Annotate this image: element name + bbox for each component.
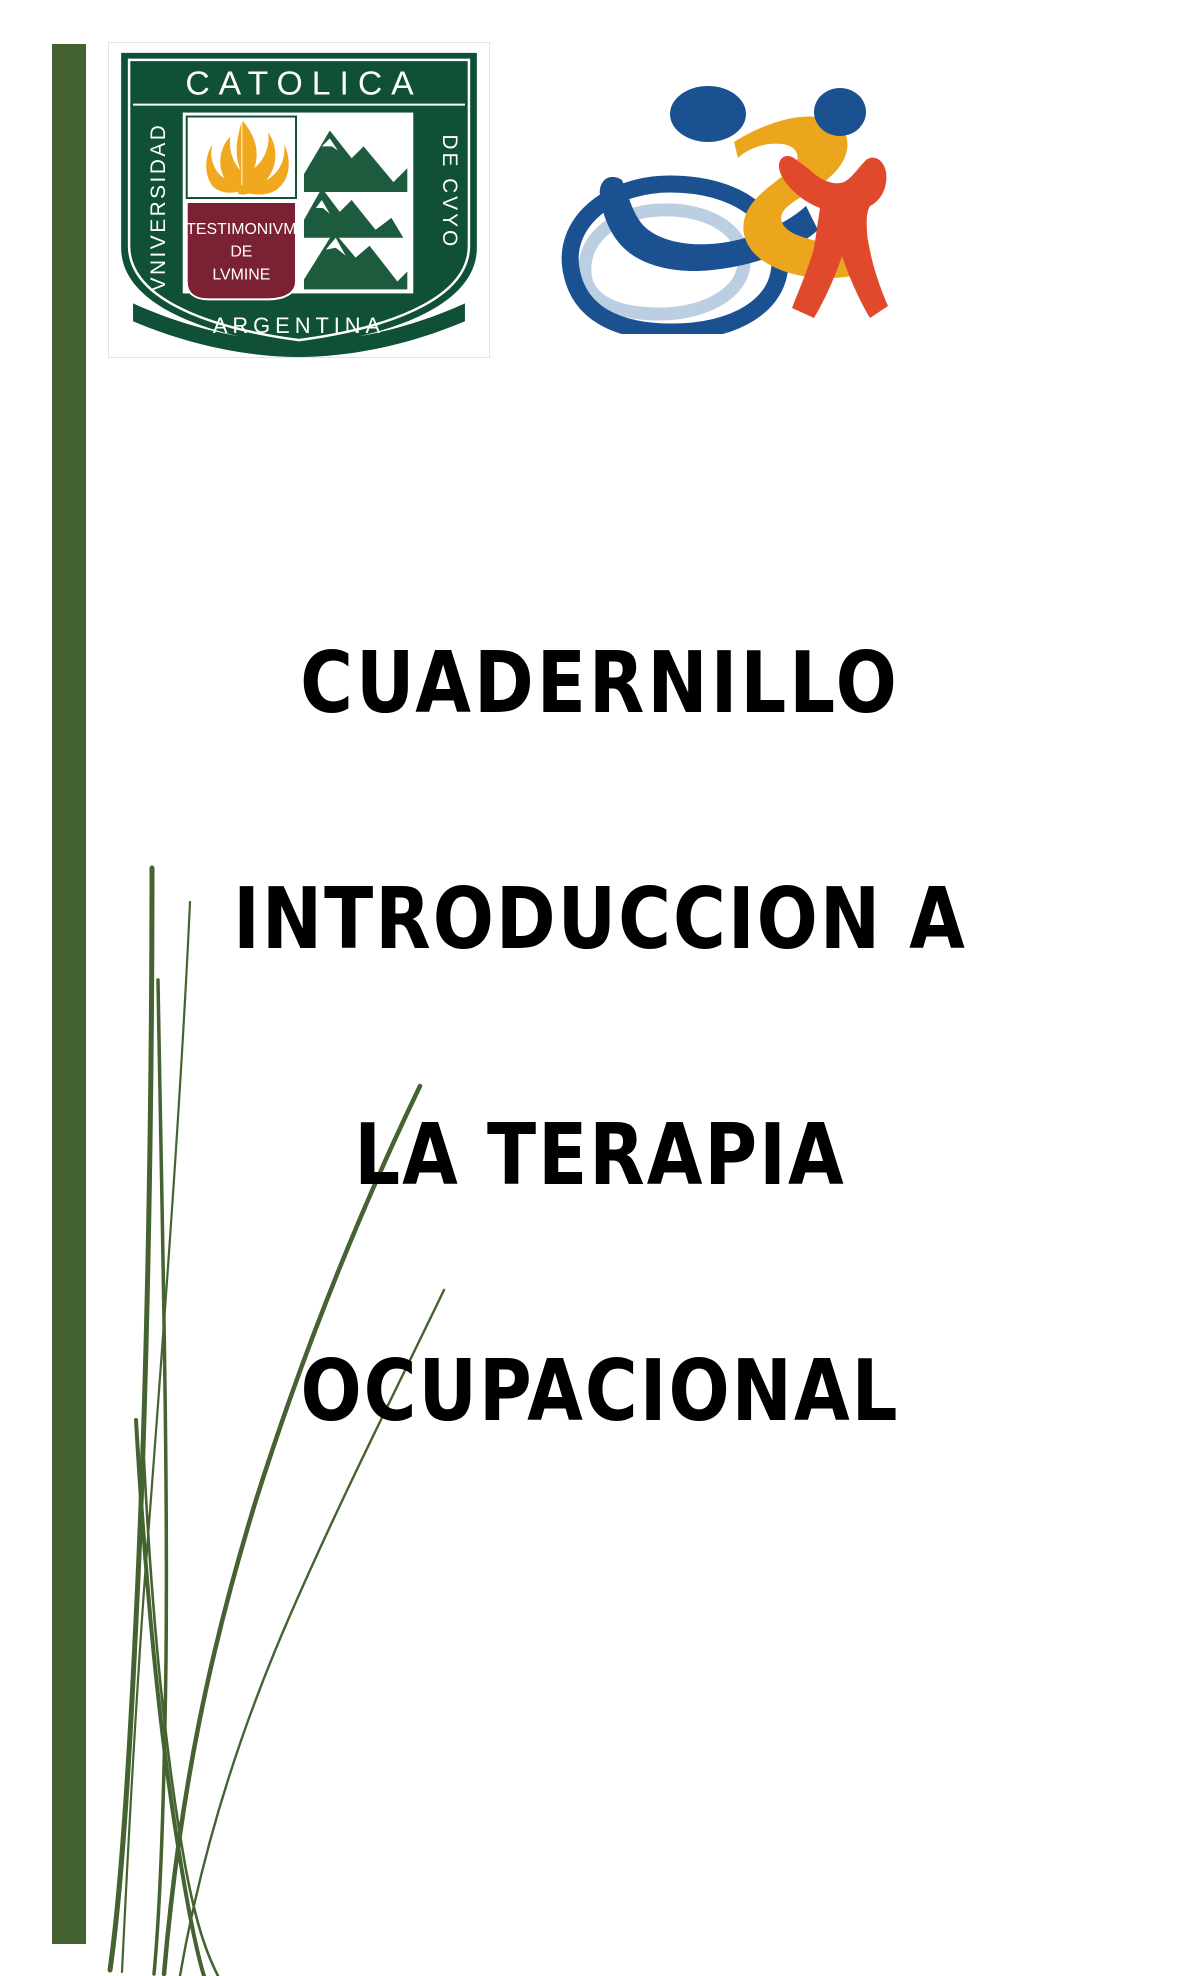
university-crest: CATOLICA VNIVERSIDAD DE CVYO [108, 42, 490, 358]
crest-top-text: CATOLICA [185, 65, 422, 103]
red-figure-head [814, 88, 866, 136]
title-line-3: LA TERAPIA [0, 1112, 1200, 1197]
crest-motto-line-3: LVMINE [212, 266, 270, 283]
crest-motto-line-1: TESTIMONIVM [186, 221, 296, 238]
title-line-4: OCUPACIONAL [0, 1348, 1200, 1433]
program-logo [548, 66, 888, 334]
cover-page: CATOLICA VNIVERSIDAD DE CVYO [0, 0, 1200, 1976]
blue-figure-head [670, 86, 746, 142]
crest-bottom-text: ARGENTINA [213, 313, 385, 338]
crest-left-text: VNIVERSIDAD [147, 123, 170, 292]
left-green-sidebar [52, 44, 86, 1944]
title-line-2: INTRODUCCION A [0, 876, 1200, 961]
title-line-1: CUADERNILLO [0, 640, 1200, 725]
crest-right-text: DE CVYO [438, 134, 461, 249]
crest-motto-line-2: DE [230, 244, 252, 261]
